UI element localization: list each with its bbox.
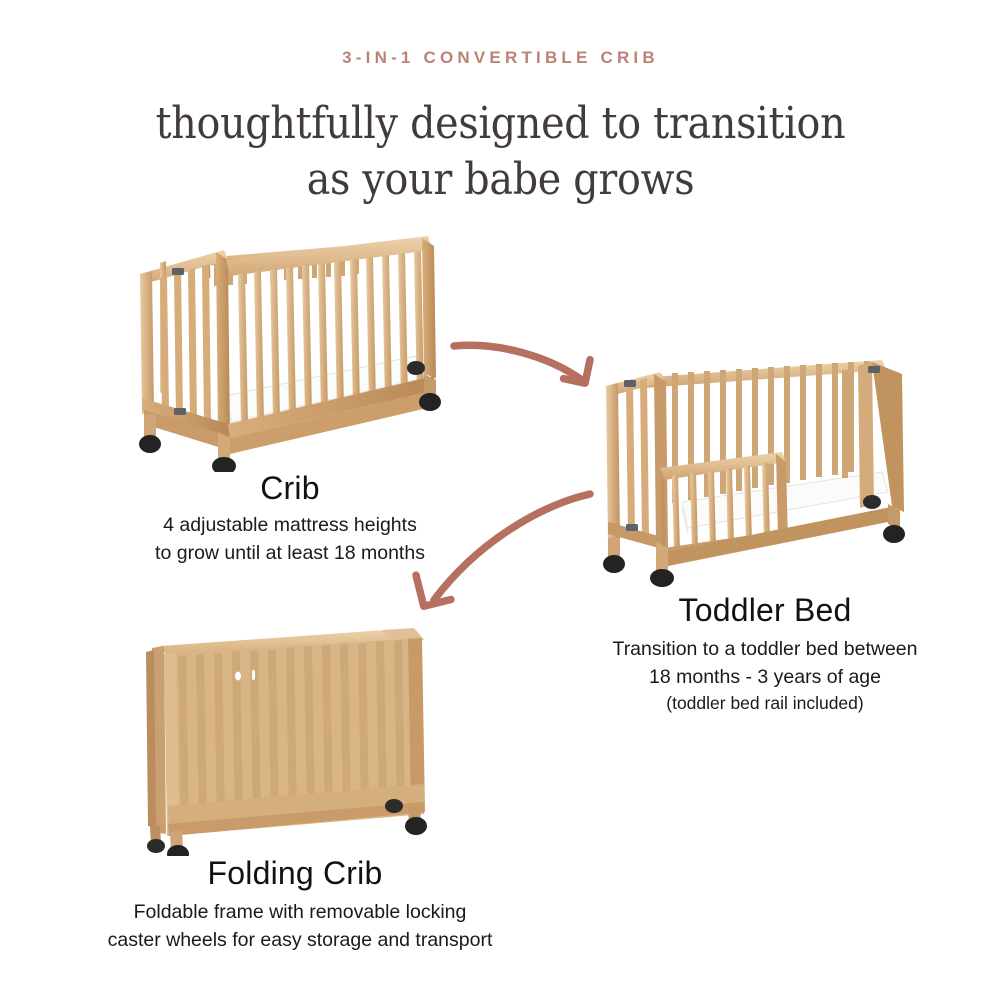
page-title: thoughtfully designed to transition as y… <box>50 96 951 208</box>
folding-desc-line-1: Foldable frame with removable locking <box>134 901 467 923</box>
headline-line-1: thoughtfully designed to transition <box>156 98 846 149</box>
toddler-desc-line-1: Transition to a toddler bed between <box>613 638 918 660</box>
folding-desc-line-2: caster wheels for easy storage and trans… <box>108 929 493 951</box>
stage-description-crib: 4 adjustable mattress heights to grow un… <box>110 512 470 567</box>
toddler-bed-illustration <box>596 352 914 590</box>
stage-title-folding-crib: Folding Crib <box>95 855 495 892</box>
headline-line-2: as your babe grows <box>50 152 951 208</box>
eyebrow-label: 3-IN-1 CONVERTIBLE CRIB <box>0 48 1001 68</box>
crib-desc-line-1: 4 adjustable mattress heights <box>163 514 417 536</box>
infographic-page: 3-IN-1 CONVERTIBLE CRIB thoughtfully des… <box>0 0 1001 1001</box>
arrow-crib-to-toddler-bed <box>440 318 630 403</box>
crib-desc-line-2: to grow until at least 18 months <box>155 542 425 564</box>
crib-illustration <box>128 228 454 472</box>
stage-description-folding-crib: Foldable frame with removable locking ca… <box>80 899 520 954</box>
stage-title-toddler-bed: Toddler Bed <box>595 592 935 629</box>
stage-title-crib: Crib <box>120 470 460 507</box>
toddler-desc-line-3: (toddler bed rail included) <box>565 691 965 716</box>
toddler-desc-line-2: 18 months - 3 years of age <box>649 666 881 688</box>
folding-crib-illustration <box>142 618 460 856</box>
stage-description-toddler-bed: Transition to a toddler bed between 18 m… <box>565 636 965 716</box>
